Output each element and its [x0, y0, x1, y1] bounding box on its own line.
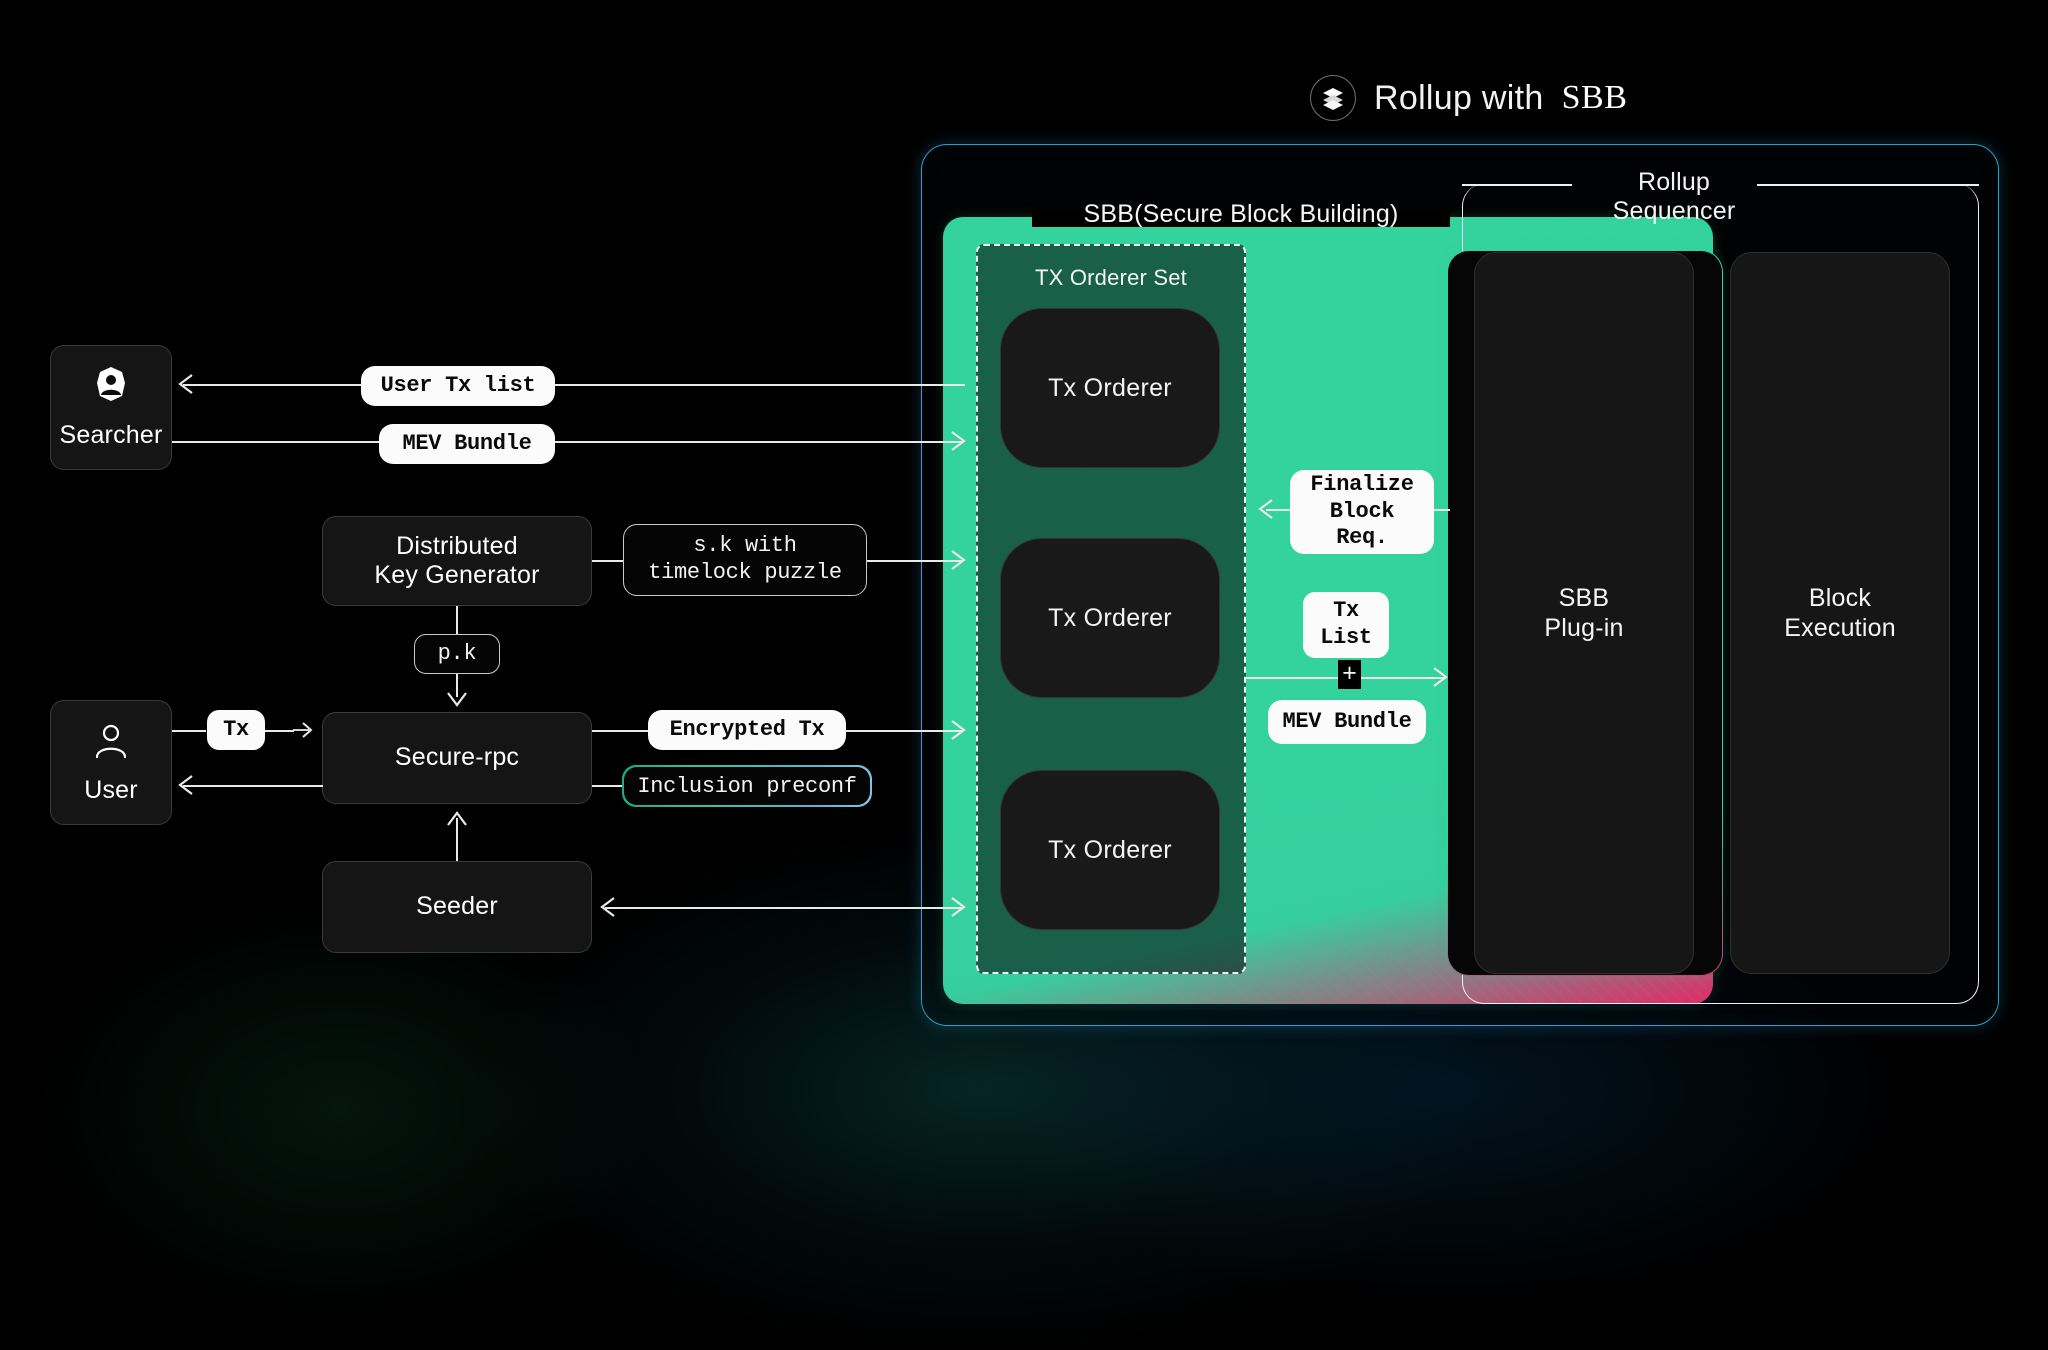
rollup-sequencer-label: Rollup Sequencer	[1590, 168, 1758, 202]
connector-seeder-orderer-set	[605, 907, 962, 909]
connector-secure-rpc-to-encrypted	[592, 730, 648, 732]
block-execution-label-line1: Block	[1784, 583, 1896, 613]
arrowhead-finalize-left	[1256, 498, 1276, 525]
user-label: User	[84, 776, 138, 806]
tx-orderer-set-label: TX Orderer Set	[976, 265, 1246, 295]
connector-dkg-to-sk	[592, 560, 624, 562]
sbb-plugin-label-line2: Plug-in	[1544, 613, 1623, 643]
connector-tx-to-secure-rpc	[264, 730, 294, 732]
arrowhead-seeder-up	[446, 809, 468, 834]
sbb-container-label: SBB(Secure Block Building)	[1032, 200, 1450, 234]
arrowhead-to-seeder	[598, 896, 618, 923]
message-inclusion-preconf[interactable]: Inclusion preconf	[622, 765, 872, 807]
user-outline-icon	[89, 719, 133, 768]
connector-encrypted-to-orderer-set	[846, 730, 962, 732]
arrowhead-to-user	[176, 774, 196, 801]
connector-dkg-to-pk	[456, 606, 458, 634]
arrowhead-sk-in	[948, 549, 968, 576]
arrowhead-seeder-out	[948, 896, 968, 923]
arrowhead-to-searcher	[176, 373, 196, 400]
page-title-brand: SBB	[1562, 79, 1628, 117]
arrowhead-pk-down	[446, 689, 468, 714]
rollup-sequencer-border-left-segment	[1462, 184, 1572, 186]
finalize-line1: Finalize	[1310, 472, 1413, 499]
distributed-key-generator-node[interactable]: Distributed Key Generator	[322, 516, 592, 606]
message-encrypted-tx[interactable]: Encrypted Tx	[648, 710, 846, 750]
page-title-prefix: Rollup with	[1374, 79, 1544, 118]
tx-list-line1: Tx	[1333, 598, 1359, 625]
arrowhead-encrypted-in	[948, 719, 968, 746]
sbb-plugin-node[interactable]: SBB Plug-in	[1474, 252, 1694, 974]
connector-secure-rpc-to-user	[183, 785, 323, 787]
message-sk-timelock-puzzle[interactable]: s.k with timelock puzzle	[623, 524, 867, 596]
block-execution-node[interactable]: Block Execution	[1730, 252, 1950, 974]
arrowhead-to-plugin	[1430, 666, 1452, 693]
sk-line2: timelock puzzle	[648, 560, 842, 587]
user-filled-icon	[89, 364, 133, 413]
connector-user-to-tx	[172, 730, 206, 732]
user-node[interactable]: User	[50, 700, 172, 825]
finalize-line3: Req.	[1336, 525, 1388, 552]
plus-sign: +	[1338, 660, 1361, 689]
message-mev-bundle-searcher[interactable]: MEV Bundle	[379, 424, 555, 464]
sk-line1: s.k with	[693, 533, 796, 560]
connector-secure-rpc-to-preconf	[592, 785, 622, 787]
seeder-node[interactable]: Seeder	[322, 861, 592, 953]
message-tx[interactable]: Tx	[207, 710, 265, 750]
connector-user-tx-list	[183, 384, 965, 386]
inclusion-preconf-label: Inclusion preconf	[624, 767, 871, 806]
message-finalize-block-req[interactable]: Finalize Block Req.	[1290, 470, 1434, 554]
secure-rpc-label: Secure-rpc	[395, 743, 519, 773]
tx-orderer-node-3[interactable]: Tx Orderer	[1000, 770, 1220, 930]
tx-orderer-node-1[interactable]: Tx Orderer	[1000, 308, 1220, 468]
arrowhead-tx-right	[292, 719, 314, 746]
block-execution-label-line2: Execution	[1784, 613, 1896, 643]
message-pk[interactable]: p.k	[414, 634, 500, 674]
stacked-layers-icon	[1310, 75, 1356, 121]
secure-rpc-node[interactable]: Secure-rpc	[322, 712, 592, 804]
arrowhead-mev-bundle-in	[948, 430, 968, 457]
searcher-node[interactable]: Searcher	[50, 345, 172, 470]
finalize-line2: Block	[1330, 499, 1395, 526]
message-tx-list[interactable]: Tx List	[1303, 592, 1389, 658]
searcher-label: Searcher	[59, 421, 162, 451]
sbb-plugin-label-line1: SBB	[1544, 583, 1623, 613]
tx-list-line2: List	[1320, 625, 1372, 652]
dkg-label-line1: Distributed	[396, 532, 518, 562]
tx-orderer-node-2[interactable]: Tx Orderer	[1000, 538, 1220, 698]
seeder-label: Seeder	[416, 892, 498, 922]
message-mev-bundle-plugin[interactable]: MEV Bundle	[1268, 700, 1426, 744]
connector-mev-bundle	[172, 441, 962, 443]
message-user-tx-list[interactable]: User Tx list	[361, 366, 555, 406]
dkg-label-line2: Key Generator	[374, 561, 539, 591]
rollup-sequencer-border-right-segment	[1757, 184, 1979, 186]
background-glow-green	[30, 900, 650, 1320]
page-title: Rollup with SBB	[1310, 75, 1627, 121]
